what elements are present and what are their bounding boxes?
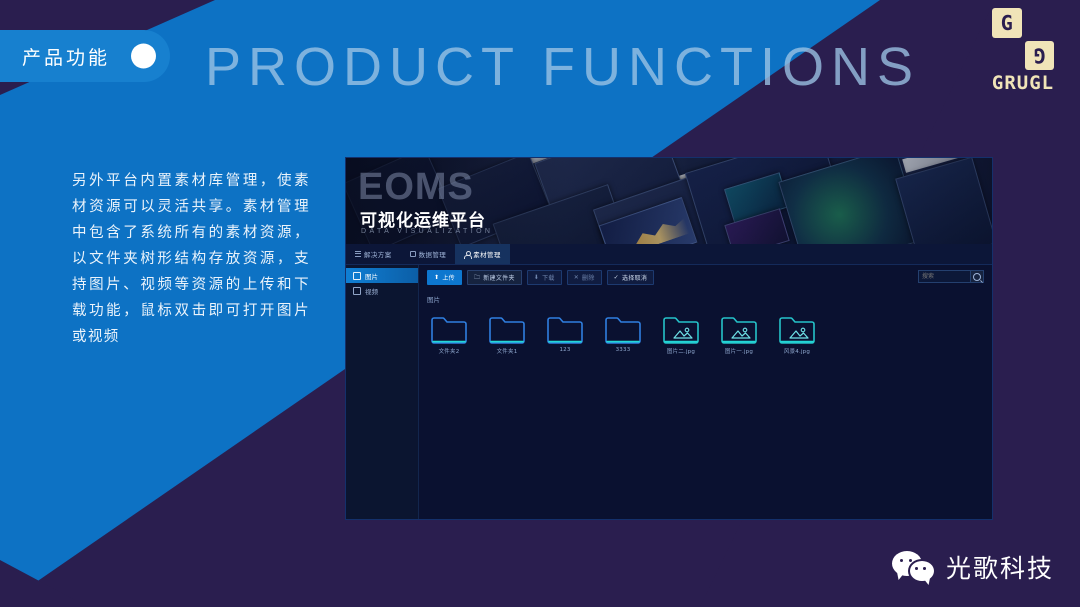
file-name: 文件夹2 bbox=[439, 347, 460, 355]
file-item-image[interactable]: 图片一.jpg bbox=[717, 315, 761, 355]
folder-plus-icon: 🗀 bbox=[474, 275, 480, 281]
delete-button[interactable]: ✕ 删除 bbox=[567, 270, 602, 285]
sidebar-item-images[interactable]: 图片 bbox=[346, 268, 418, 283]
brand-logo: G G GRUGL bbox=[984, 8, 1062, 94]
upload-button[interactable]: ⬆ 上传 bbox=[427, 270, 462, 285]
file-item-folder[interactable]: 3333 bbox=[601, 315, 645, 355]
image-icon bbox=[353, 272, 361, 280]
wechat-eye bbox=[915, 567, 918, 570]
grid-icon bbox=[355, 251, 361, 257]
upload-button-label: 上传 bbox=[442, 273, 455, 282]
nav-item-solutions[interactable]: 解决方案 bbox=[346, 244, 401, 264]
pill-dot-icon bbox=[131, 44, 156, 69]
wechat-eye bbox=[900, 559, 903, 562]
new-folder-button-label: 新建文件夹 bbox=[483, 273, 515, 282]
app-sidebar: 图片 视频 bbox=[346, 265, 419, 520]
wechat-icon bbox=[892, 551, 936, 583]
download-icon: ⬇ bbox=[534, 275, 539, 281]
file-item-folder[interactable]: 123 bbox=[543, 315, 587, 355]
image-file-icon bbox=[778, 315, 816, 344]
section-tag-pill: 产品功能 bbox=[0, 30, 170, 82]
breadcrumb: 图片 bbox=[427, 294, 984, 304]
new-folder-button[interactable]: 🗀 新建文件夹 bbox=[467, 270, 522, 285]
logo-letter-g-rotated: G bbox=[1025, 41, 1055, 71]
nav-item-data-management[interactable]: 数据管理 bbox=[401, 244, 456, 264]
nav-item-asset-management[interactable]: 素材管理 bbox=[455, 244, 510, 264]
download-button-label: 下载 bbox=[542, 273, 555, 282]
select-cancel-button-label: 选择取消 bbox=[622, 273, 647, 282]
file-grid: 文件夹2 文件夹1 bbox=[427, 315, 984, 355]
logo-mark: G G bbox=[992, 8, 1054, 70]
file-name: 图片二.jpg bbox=[667, 347, 695, 355]
document-icon bbox=[410, 251, 416, 257]
download-button[interactable]: ⬇ 下载 bbox=[527, 270, 562, 285]
logo-cell-top-left: G bbox=[992, 8, 1022, 38]
folder-icon bbox=[546, 315, 584, 344]
user-icon bbox=[464, 251, 470, 257]
app-toolbar: ⬆ 上传 🗀 新建文件夹 ⬇ 下载 ✕ 删除 bbox=[427, 270, 984, 285]
upload-icon: ⬆ bbox=[434, 275, 439, 281]
logo-letter-g: G bbox=[992, 8, 1022, 38]
file-item-image[interactable]: 图片二.jpg bbox=[659, 315, 703, 355]
file-name: 图片一.jpg bbox=[725, 347, 753, 355]
nav-item-label: 素材管理 bbox=[473, 249, 501, 259]
section-tag-label: 产品功能 bbox=[22, 43, 110, 70]
folder-icon bbox=[430, 315, 468, 344]
sidebar-item-label: 图片 bbox=[365, 271, 378, 281]
image-file-icon bbox=[662, 315, 700, 344]
sidebar-item-label: 视频 bbox=[365, 286, 378, 296]
select-cancel-button[interactable]: ✓ 选择取消 bbox=[607, 270, 655, 285]
wechat-eye bbox=[923, 567, 926, 570]
slide-root: 产品功能 PRODUCT FUNCTIONS G G GRUGL 另外平台内置素… bbox=[0, 0, 1080, 607]
logo-cell-bottom-right: G bbox=[1025, 41, 1055, 71]
file-name: 风景4.jpg bbox=[784, 347, 810, 355]
file-name: 123 bbox=[559, 347, 570, 353]
description-paragraph: 另外平台内置素材库管理，使素材资源可以灵活共享。素材管理中包含了系统所有的素材资… bbox=[72, 168, 310, 350]
app-body: 图片 视频 ⬆ 上传 🗀 新建文件夹 bbox=[346, 265, 992, 520]
banner-title-en: DATA VISUALIZATION bbox=[361, 228, 493, 235]
wechat-watermark: 光歌科技 bbox=[892, 549, 1054, 585]
logo-cell-top-right bbox=[1025, 8, 1055, 38]
file-item-folder[interactable]: 文件夹2 bbox=[427, 315, 471, 355]
search-icon bbox=[973, 273, 981, 281]
nav-item-label: 解决方案 bbox=[364, 249, 392, 259]
video-icon bbox=[353, 287, 361, 295]
nav-item-label: 数据管理 bbox=[419, 249, 447, 259]
search-button[interactable] bbox=[970, 270, 984, 283]
wechat-label: 光歌科技 bbox=[946, 549, 1054, 585]
sidebar-item-videos[interactable]: 视频 bbox=[346, 283, 418, 298]
file-name: 文件夹1 bbox=[497, 347, 518, 355]
check-icon: ✓ bbox=[614, 275, 619, 281]
page-title: PRODUCT FUNCTIONS bbox=[205, 36, 920, 98]
file-name: 3333 bbox=[616, 347, 631, 353]
app-screenshot: EOMS 可视化运维平台 DATA VISUALIZATION 解决方案 数据管… bbox=[345, 157, 993, 520]
app-navbar: 解决方案 数据管理 素材管理 bbox=[346, 244, 992, 265]
wechat-bubble-small bbox=[908, 559, 936, 583]
delete-button-label: 删除 bbox=[582, 273, 595, 282]
search-input[interactable] bbox=[918, 270, 970, 283]
file-item-image[interactable]: 风景4.jpg bbox=[775, 315, 819, 355]
folder-icon bbox=[488, 315, 526, 344]
logo-cell-bottom-left bbox=[992, 41, 1022, 71]
app-content: ⬆ 上传 🗀 新建文件夹 ⬇ 下载 ✕ 删除 bbox=[419, 265, 992, 520]
trash-icon: ✕ bbox=[574, 275, 579, 281]
app-banner: EOMS 可视化运维平台 DATA VISUALIZATION bbox=[346, 158, 992, 244]
image-file-icon bbox=[720, 315, 758, 344]
search-area bbox=[918, 270, 984, 283]
folder-icon bbox=[604, 315, 642, 344]
logo-wordmark: GRUGL bbox=[984, 72, 1062, 94]
file-item-folder[interactable]: 文件夹1 bbox=[485, 315, 529, 355]
banner-brand: EOMS bbox=[358, 166, 474, 209]
